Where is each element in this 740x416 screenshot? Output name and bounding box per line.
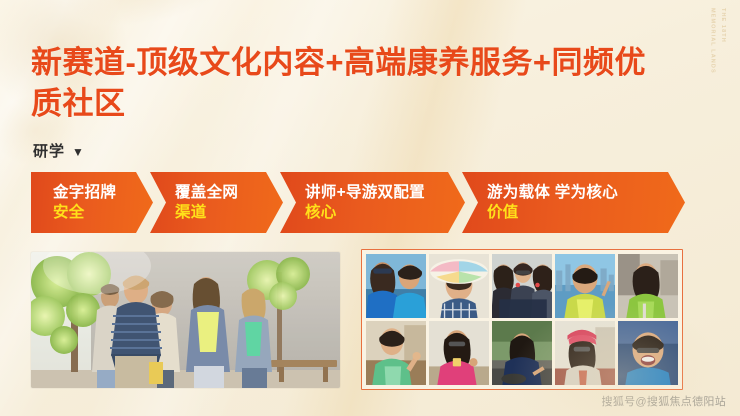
grid-photo-3 (492, 254, 552, 318)
chevron-item-3: 讲师+导游双配置 核心 (280, 172, 465, 233)
chevron-item-1: 金字招牌 安全 (31, 172, 153, 233)
chevron-item-1-bottom: 安全 (53, 204, 129, 222)
chevron-item-3-top: 讲师+导游双配置 (305, 184, 441, 202)
chevron-item-3-bottom: 核心 (305, 204, 441, 222)
grid-photo-6 (366, 321, 426, 385)
section-label-text: 研学 (33, 140, 65, 161)
grid-photo-7 (429, 321, 489, 385)
slide-canvas: THE 18TH MEMORIAL LANDS 新赛道-顶级文化内容+高端康养服… (0, 0, 740, 416)
watermark-text: 搜狐号@搜狐焦点德阳站 (602, 393, 726, 409)
grid-photo-4 (555, 254, 615, 318)
chevron-down-icon: ▼ (72, 146, 85, 158)
grid-photo-9 (555, 321, 615, 385)
grid-photo-8 (492, 321, 552, 385)
chevron-item-2-top: 覆盖全网 (175, 184, 259, 202)
section-label: 研学 ▼ (33, 140, 85, 161)
grid-photo-2 (429, 254, 489, 318)
chevron-item-2-bottom: 渠道 (175, 204, 259, 222)
grid-photo-5 (618, 254, 678, 318)
chevron-item-4-top: 游为载体 学为核心 (487, 184, 661, 202)
grid-photo-1 (366, 254, 426, 318)
photo-grid (366, 254, 678, 385)
chevron-item-4-bottom: 价值 (487, 204, 661, 222)
campus-photo-image (31, 252, 340, 388)
photo-grid-frame (361, 249, 683, 390)
campus-photo (31, 252, 340, 388)
grid-photo-10 (618, 321, 678, 385)
chevron-item-2: 覆盖全网 渠道 (150, 172, 283, 233)
chevron-banner-row: 金字招牌 安全 覆盖全网 渠道 讲师+导游双配置 核心 游为载体 学为核心 价值 (31, 172, 686, 233)
corner-mark-text: THE 18TH MEMORIAL LANDS (707, 8, 728, 74)
chevron-item-1-top: 金字招牌 (53, 184, 129, 202)
page-title: 新赛道-顶级文化内容+高端康养服务+同频优质社区 (31, 42, 671, 124)
chevron-item-4: 游为载体 学为核心 价值 (462, 172, 685, 233)
